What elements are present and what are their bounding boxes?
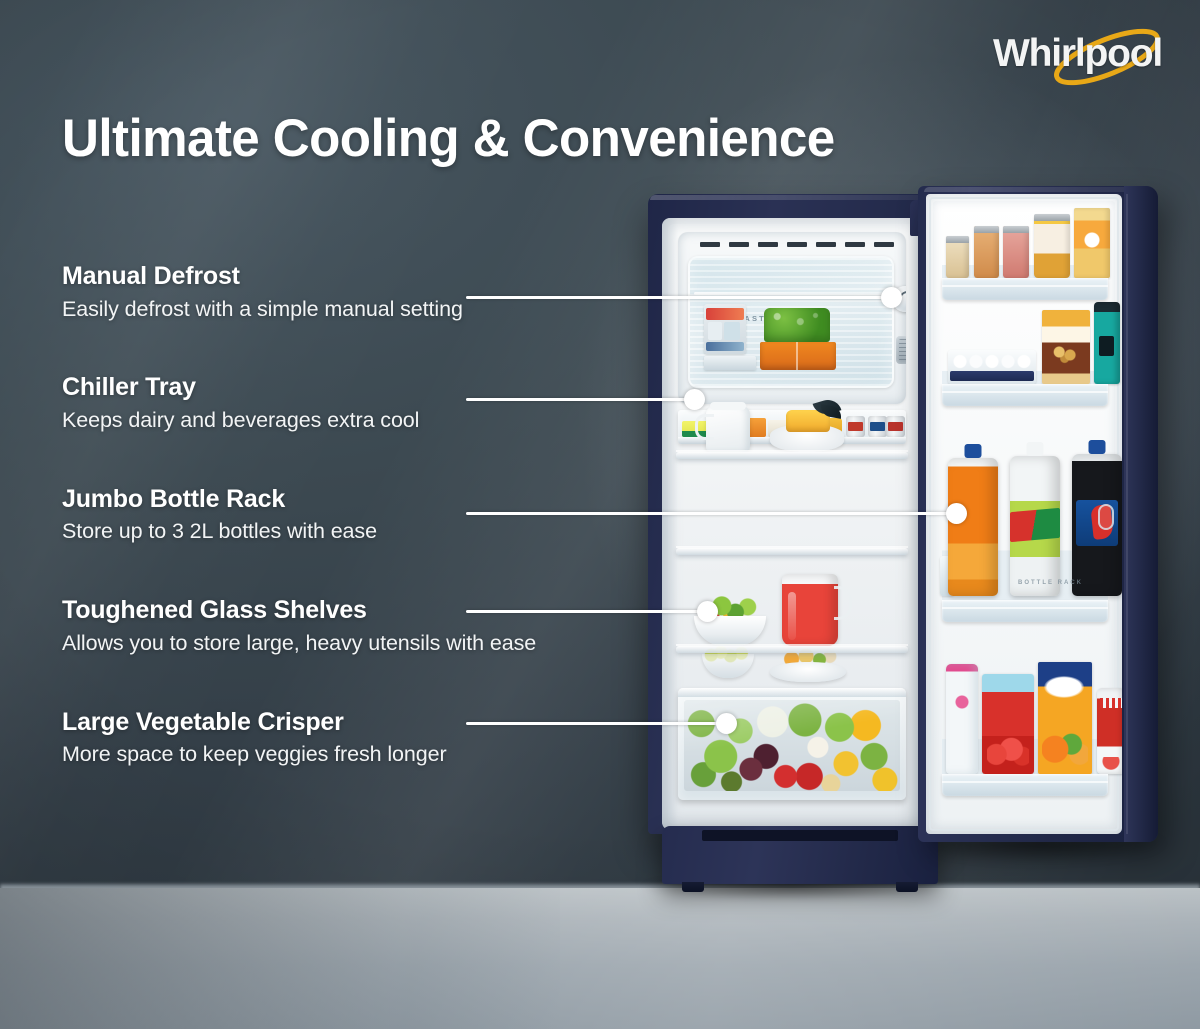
freezer-vents xyxy=(700,242,894,247)
page-title: Ultimate Cooling & Convenience xyxy=(62,108,835,169)
tomato-sauce-pack xyxy=(982,674,1034,774)
juice-pitcher xyxy=(782,574,838,646)
door-bin-top xyxy=(942,208,1108,300)
vent-slot xyxy=(787,242,807,247)
teal-bottle xyxy=(1094,302,1120,384)
soda-can xyxy=(846,416,865,437)
soda-can xyxy=(868,416,887,437)
vegetable-crisper xyxy=(678,688,906,800)
feature-item-jumbo-bottle-rack: Jumbo Bottle Rack Store up to 3 2L bottl… xyxy=(62,485,682,546)
bin-rail xyxy=(942,278,1108,300)
feature-description: Allows you to store large, heavy utensil… xyxy=(62,630,682,658)
brand-logo: Whirlpool xyxy=(993,26,1173,88)
bin-rail xyxy=(942,600,1108,622)
feature-item-large-vegetable-crisper: Large Vegetable Crisper More space to ke… xyxy=(62,708,682,769)
preserve-jar xyxy=(1034,214,1070,278)
food-dish xyxy=(770,662,846,682)
feature-item-manual-defrost: Manual Defrost Easily defrost with a sim… xyxy=(62,262,682,323)
glass-shelf-2 xyxy=(676,548,908,555)
feature-title: Toughened Glass Shelves xyxy=(62,596,682,626)
water-bottle xyxy=(946,664,978,774)
base-foot xyxy=(682,882,704,892)
refrigerator-door[interactable]: BOTTLE RACK xyxy=(918,186,1158,842)
freezer-door-panel: FAST ICE xyxy=(688,256,894,388)
feature-title: Chiller Tray xyxy=(62,373,682,403)
snack-pack xyxy=(1042,310,1090,384)
spice-jar xyxy=(974,226,999,278)
feature-description: More space to keep veggies fresh longer xyxy=(62,741,682,769)
feature-description: Store up to 3 2L bottles with ease xyxy=(62,518,682,546)
pickle-jar xyxy=(1003,226,1029,278)
bin-rail xyxy=(942,774,1108,796)
lemon-soda-2l-bottle xyxy=(1010,456,1060,596)
door-liner: BOTTLE RACK xyxy=(926,194,1122,834)
refrigerator-cabinet: FAST ICE xyxy=(648,194,936,834)
brand-name: Whirlpool xyxy=(993,32,1162,76)
ice-pack xyxy=(704,304,746,354)
marketing-banner: Whirlpool Ultimate Cooling & Convenience… xyxy=(0,0,1200,1029)
door-bin-second xyxy=(942,314,1108,406)
defrost-knob-icon[interactable] xyxy=(892,286,906,312)
bottle-rack-label: BOTTLE RACK xyxy=(1018,580,1083,586)
orange-juice-carton xyxy=(1038,662,1092,774)
bin-rail xyxy=(942,384,1108,406)
interior-wall-left xyxy=(662,218,678,830)
vent-slot xyxy=(700,242,720,247)
crisper-lid xyxy=(678,688,906,697)
vent-slot xyxy=(845,242,865,247)
milk-jug xyxy=(706,406,750,452)
egg-tray xyxy=(948,350,1036,384)
feature-title: Jumbo Bottle Rack xyxy=(62,485,682,515)
frozen-peas xyxy=(764,308,830,342)
feature-list: Manual Defrost Easily defrost with a sim… xyxy=(62,262,682,769)
vent-slot xyxy=(758,242,778,247)
vent-slot xyxy=(874,242,894,247)
ketchup-bottle xyxy=(1097,688,1122,774)
glass-shelf-3 xyxy=(676,646,908,653)
vent-slot xyxy=(729,242,749,247)
orange-soda-2l-bottle xyxy=(948,458,998,596)
door-bin-bottom xyxy=(942,646,1108,796)
mango-juice-carton xyxy=(1074,208,1110,278)
crisper-glass-shine xyxy=(684,700,900,791)
frozen-carrots xyxy=(760,342,836,370)
feature-item-toughened-glass-shelves: Toughened Glass Shelves Allows you to st… xyxy=(62,596,682,657)
cabinet-highlight xyxy=(650,195,934,200)
feature-item-chiller-tray: Chiller Tray Keeps dairy and beverages e… xyxy=(62,373,682,434)
refrigerator-product-image: FAST ICE xyxy=(648,186,1158,886)
freezer-light-housing xyxy=(896,336,906,364)
freezer-compartment: FAST ICE xyxy=(678,232,906,404)
feature-description: Keeps dairy and beverages extra cool xyxy=(62,407,682,435)
refrigerator-interior: FAST ICE xyxy=(662,218,924,830)
feature-description: Easily defrost with a simple manual sett… xyxy=(62,296,682,324)
feature-title: Large Vegetable Crisper xyxy=(62,708,682,738)
ice-tray xyxy=(704,356,756,370)
door-highlight xyxy=(924,187,1152,192)
soda-can xyxy=(886,416,905,437)
door-bottle-rack: BOTTLE RACK xyxy=(942,434,1108,622)
freezer-shelf-line xyxy=(694,292,888,295)
nut-jar xyxy=(946,236,969,278)
base-vent-slot xyxy=(702,830,898,841)
vent-slot xyxy=(816,242,836,247)
cola-2l-bottle xyxy=(1072,454,1122,596)
base-foot xyxy=(896,882,918,892)
crisper-vegetables xyxy=(684,700,900,791)
door-outer-edge xyxy=(1124,186,1158,842)
refrigerator-base xyxy=(662,826,938,884)
feature-title: Manual Defrost xyxy=(62,262,682,292)
floor-shadow-left xyxy=(0,888,560,1029)
door-inner-latch xyxy=(1098,504,1114,530)
glass-shelf-1 xyxy=(676,452,908,459)
